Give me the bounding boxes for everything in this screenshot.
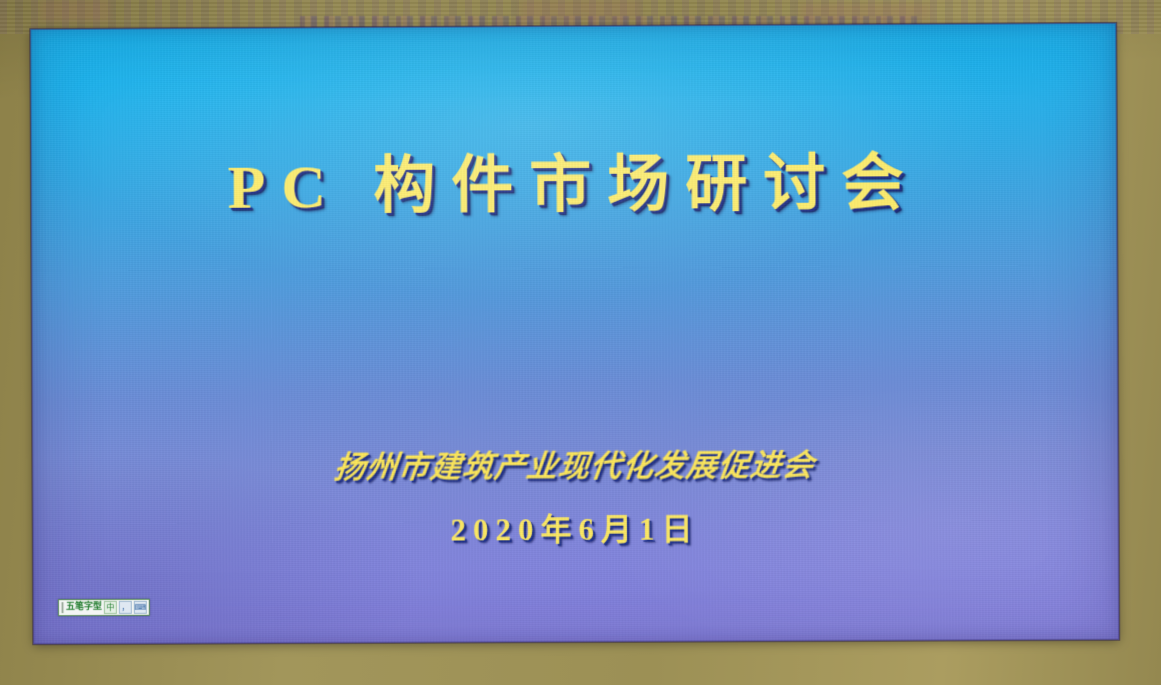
- slide-surface: PC 构件市场研讨会 扬州市建筑产业现代化发展促进会 2020年6月1日 五笔字…: [30, 23, 1119, 644]
- soft-keyboard-toggle-icon[interactable]: ⌨: [134, 601, 147, 614]
- drag-grip-icon[interactable]: [61, 602, 64, 613]
- wall-stain-center: [520, 0, 640, 20]
- slide-date: 2020年6月1日: [33, 502, 1119, 552]
- ime-status-bar[interactable]: 五笔字型 中 ， ⌨: [58, 599, 150, 616]
- chinese-english-toggle-icon[interactable]: 中: [104, 601, 117, 614]
- slide-title: PC 构件市场研讨会: [31, 151, 1117, 222]
- punctuation-toggle-icon[interactable]: ，: [119, 601, 132, 614]
- slide-organization: 扬州市建筑产业现代化发展促进会: [30, 438, 1119, 488]
- presentation-slide: PC 构件市场研讨会 扬州市建筑产业现代化发展促进会 2020年6月1日: [30, 23, 1119, 644]
- projection-screen: PC 构件市场研讨会 扬州市建筑产业现代化发展促进会 2020年6月1日 五笔字…: [30, 23, 1119, 644]
- projector-photo: PC 构件市场研讨会 扬州市建筑产业现代化发展促进会 2020年6月1日 五笔字…: [0, 0, 1161, 685]
- wall-stain-right: [800, 4, 930, 20]
- ime-method-label: 五笔字型: [66, 603, 102, 612]
- wall-stain-left: [40, 0, 110, 22]
